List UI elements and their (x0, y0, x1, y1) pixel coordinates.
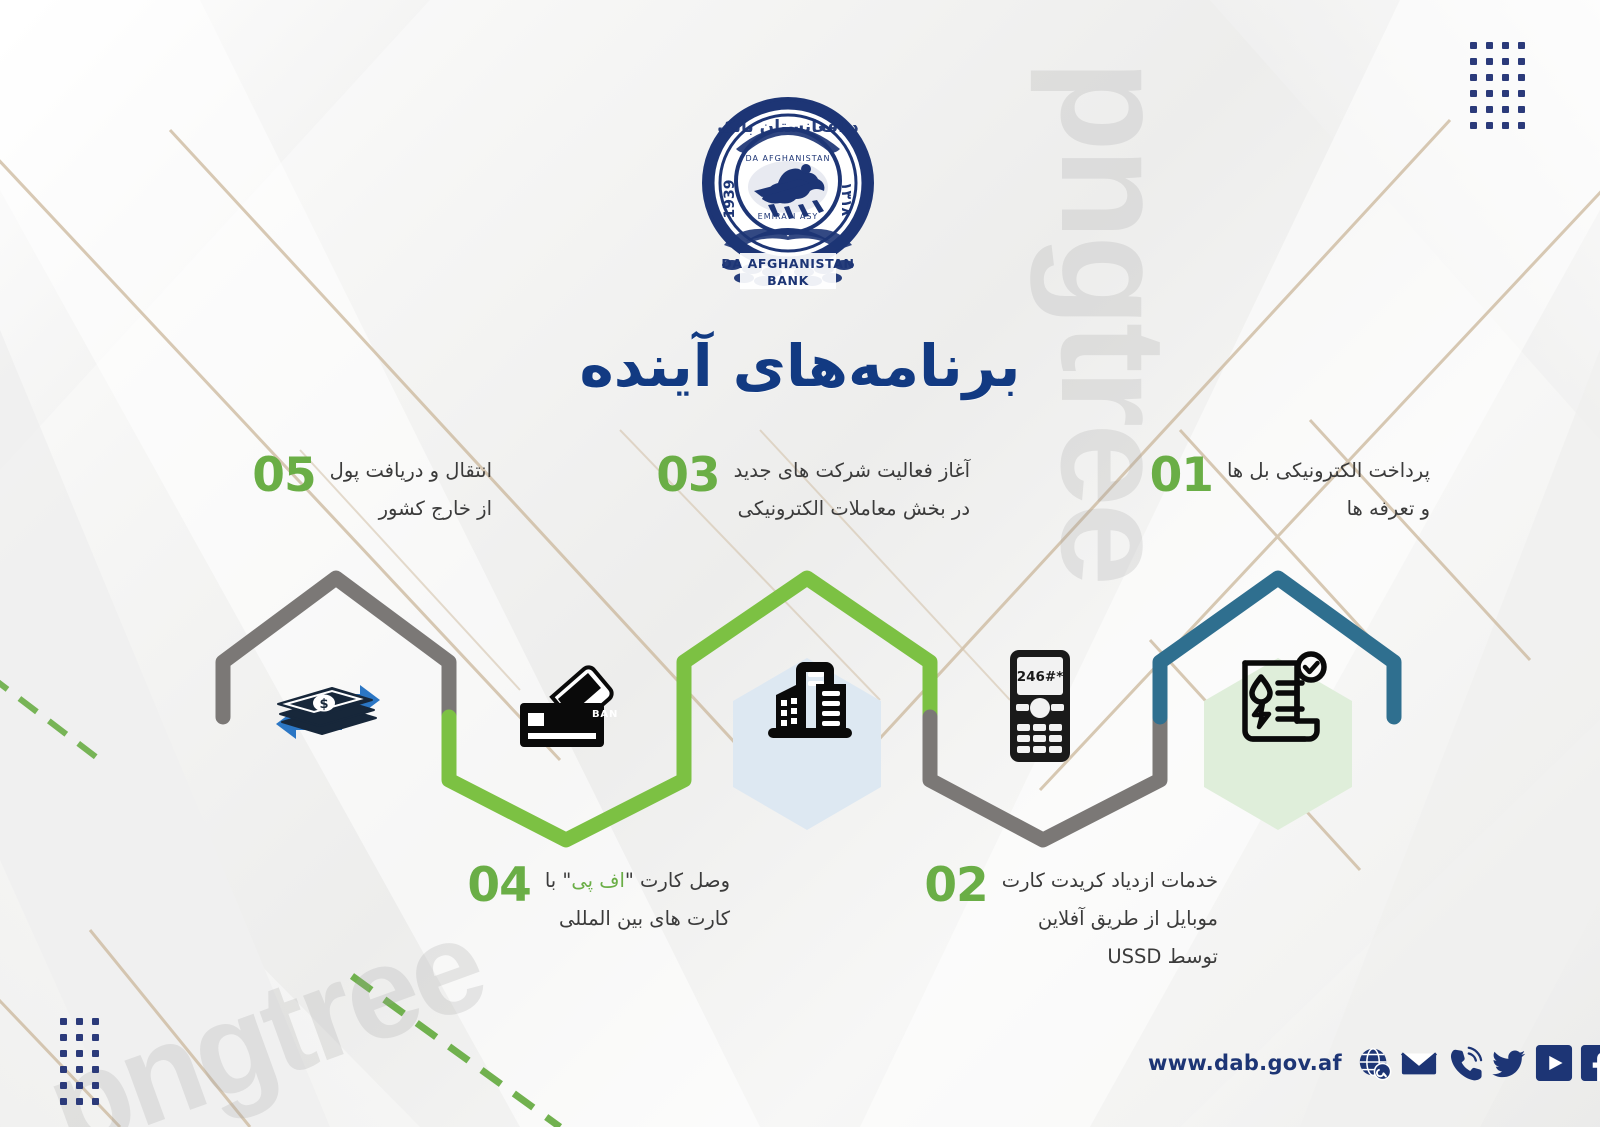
step-05-line-2: از خارج کشور (330, 490, 492, 528)
bill-invoice-icon (1228, 645, 1332, 749)
step-03-line-1: آغاز فعالیت شرکت های جدید (734, 452, 970, 490)
step-01-line-2: و تعرفه ها (1227, 490, 1430, 528)
svg-text:DA AFGHANISTAN: DA AFGHANISTAN (746, 154, 831, 163)
card-label: BANK (592, 709, 618, 720)
svg-text:۱۳۱۸: ۱۳۱۸ (838, 182, 854, 217)
step-01: پرداخت الکترونیکی بل ها و تعرفه ها 01 (1150, 452, 1430, 528)
website-globe-icon[interactable] (1355, 1044, 1393, 1082)
office-buildings-icon (760, 648, 856, 748)
footer-contact-bar: www.dab.gov.af (1148, 1044, 1600, 1082)
mobile-phone-icon: *246# (1008, 648, 1072, 764)
svg-text:$: $ (319, 697, 328, 712)
page-title: برنامه‌های آینده (0, 335, 1600, 399)
infographic-canvas: pngtree pngtree د افغانستان بانک 1939 ۱۳… (0, 0, 1600, 1127)
phone-icon[interactable] (1445, 1044, 1483, 1082)
money-transfer-icon: $ (268, 660, 388, 752)
logo-line1: DA AFGHANISTAN (721, 256, 854, 271)
email-icon[interactable] (1400, 1044, 1438, 1082)
phone-screen-text: *246# (1017, 669, 1064, 685)
step-03: آغاز فعالیت شرکت های جدید در بخش معاملات… (656, 452, 970, 528)
step-02-line-3: توسط USSD (1002, 938, 1218, 976)
step-02-number: 02 (924, 862, 987, 909)
bank-logo: د افغانستان بانک 1939 ۱۳۱۸ DA AFGHANISTA… (688, 95, 888, 295)
logo-line2: BANK (767, 273, 809, 288)
step-05-line-1: انتقال و دریافت پول (330, 452, 492, 490)
step-04-line-2: کارت های بین المللی (545, 900, 730, 938)
bank-cards-icon: BANK (512, 655, 618, 753)
twitter-icon[interactable] (1490, 1044, 1528, 1082)
step-03-number: 03 (656, 452, 719, 499)
step-05: انتقال و دریافت پول از خارج کشور 05 (252, 452, 492, 528)
svg-text:EMIRATI ASY: EMIRATI ASY (758, 212, 819, 221)
step-03-line-2: در بخش معاملات الکترونیکی (734, 490, 970, 528)
step-04-number: 04 (467, 862, 530, 909)
step-02: خدمات ازدیاد کریدت کارت موبایل از طریق آ… (924, 862, 1218, 976)
step-05-number: 05 (252, 452, 315, 499)
step-02-line-2: موبایل از طریق آفلاین (1002, 900, 1218, 938)
step-01-number: 01 (1150, 452, 1213, 499)
website-url[interactable]: www.dab.gov.af (1148, 1051, 1342, 1075)
youtube-icon[interactable] (1535, 1044, 1573, 1082)
facebook-icon[interactable] (1580, 1044, 1600, 1082)
svg-text:1939: 1939 (722, 180, 738, 219)
step-01-line-1: پرداخت الکترونیکی بل ها (1227, 452, 1430, 490)
svg-text:د افغانستان بانک: د افغانستان بانک (717, 117, 859, 137)
step-02-line-1: خدمات ازدیاد کریدت کارت (1002, 862, 1218, 900)
step-04: وصل کارت "اف پی" با کارت های بین المللی … (467, 862, 730, 938)
step-04-line-1: وصل کارت "اف پی" با (545, 862, 730, 900)
